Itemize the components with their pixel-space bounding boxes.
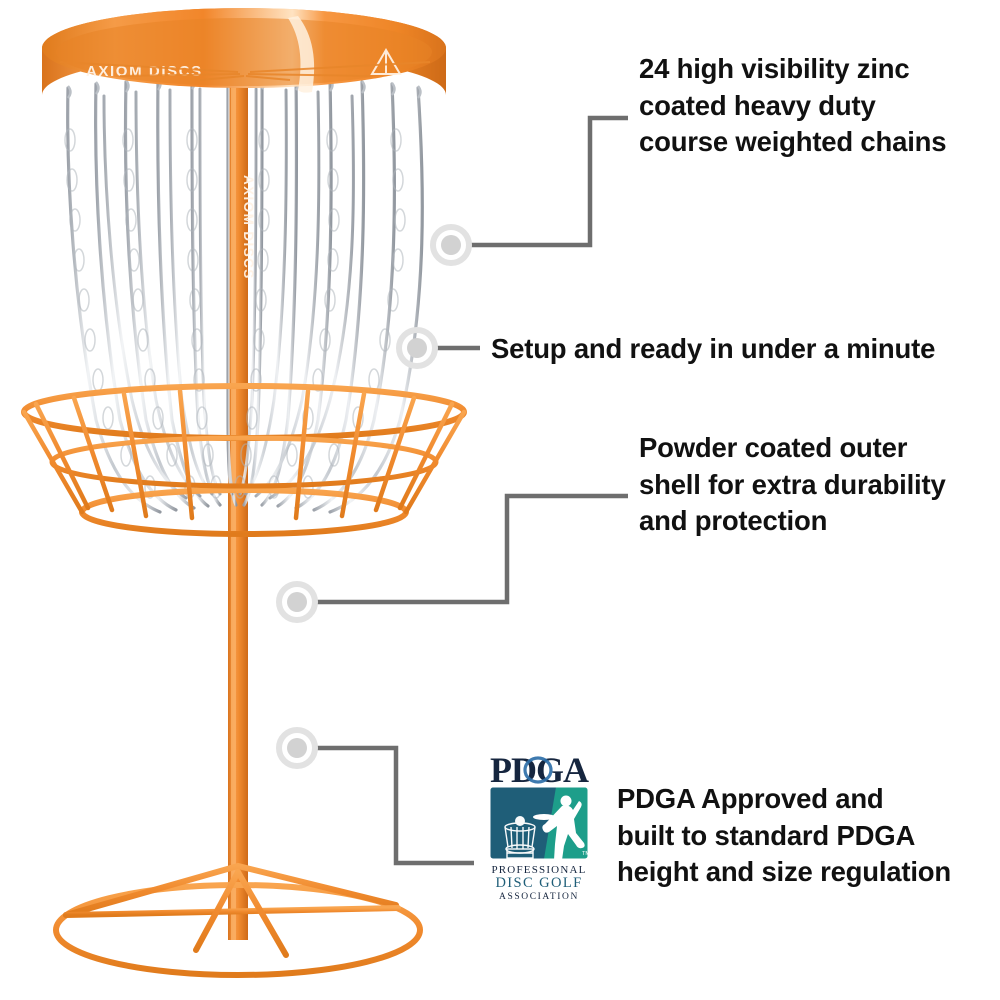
tripod-base bbox=[56, 866, 420, 975]
disc-golf-basket-illustration: AXIOM DISCS bbox=[0, 0, 470, 1000]
pdga-logo: PDGA TM bbox=[478, 749, 600, 901]
top-rim-band: AXIOM DISCS bbox=[42, 8, 446, 95]
outer-cage-basket bbox=[24, 386, 464, 534]
pdga-emblem bbox=[490, 787, 588, 864]
pdga-wordmark: PDGA bbox=[490, 750, 589, 790]
pdga-line-2: DISC GOLF bbox=[495, 875, 582, 891]
rim-brand-label: AXIOM DISCS bbox=[86, 63, 203, 80]
pdga-trademark: TM bbox=[582, 851, 590, 857]
connector-line-1 bbox=[471, 118, 628, 245]
callout-label-setup: Setup and ready in under a minute bbox=[491, 331, 991, 368]
callout-label-chains: 24 high visibility zinc coated heavy dut… bbox=[639, 51, 991, 161]
callout-label-powder-coat: Powder coated outer shell for extra dura… bbox=[639, 430, 991, 540]
pdga-line-3: ASSOCIATION bbox=[499, 892, 579, 901]
callout-label-pdga: PDGA Approved and built to standard PDGA… bbox=[617, 781, 992, 891]
illustration-canvas: AXIOM DISCS bbox=[0, 0, 1000, 1000]
